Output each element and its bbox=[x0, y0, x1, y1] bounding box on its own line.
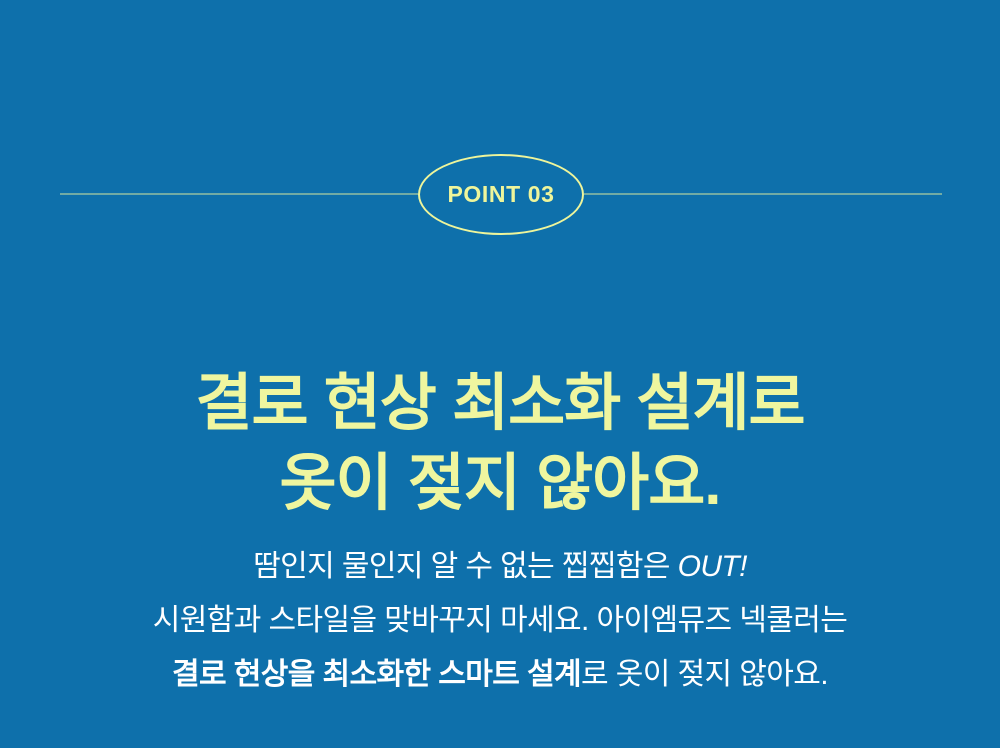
promo-slide: POINT 03 결로 현상 최소화 설계로 옷이 젖지 않아요. 땀인지 물인… bbox=[0, 0, 1000, 748]
body-copy: 땀인지 물인지 알 수 없는 찝찝함은 OUT! 시원함과 스타일을 맞바꾸지 … bbox=[0, 540, 1000, 702]
body-line-1-text: 땀인지 물인지 알 수 없는 찝찝함은 bbox=[253, 550, 677, 583]
divider-line-left bbox=[60, 193, 418, 195]
body-line-1-emphasis: OUT! bbox=[678, 550, 747, 583]
divider-line-right bbox=[584, 193, 942, 195]
point-badge-row: POINT 03 bbox=[0, 153, 1000, 235]
body-line-2: 시원함과 스타일을 맞바꾸지 마세요. 아이엠뮤즈 넥쿨러는 bbox=[0, 594, 1000, 648]
page-title: 결로 현상 최소화 설계로 옷이 젖지 않아요. bbox=[0, 364, 1000, 524]
body-line-3-rest: 로 옷이 젖지 않아요. bbox=[581, 658, 828, 691]
point-badge-label: POINT 03 bbox=[447, 183, 554, 206]
heading-line-2: 옷이 젖지 않아요. bbox=[0, 444, 1000, 524]
body-line-3-strong: 결로 현상을 최소화한 스마트 설계 bbox=[172, 658, 581, 691]
body-line-1: 땀인지 물인지 알 수 없는 찝찝함은 OUT! bbox=[0, 540, 1000, 594]
body-line-3: 결로 현상을 최소화한 스마트 설계로 옷이 젖지 않아요. bbox=[0, 648, 1000, 702]
point-badge: POINT 03 bbox=[418, 154, 584, 235]
heading-line-1: 결로 현상 최소화 설계로 bbox=[0, 364, 1000, 444]
